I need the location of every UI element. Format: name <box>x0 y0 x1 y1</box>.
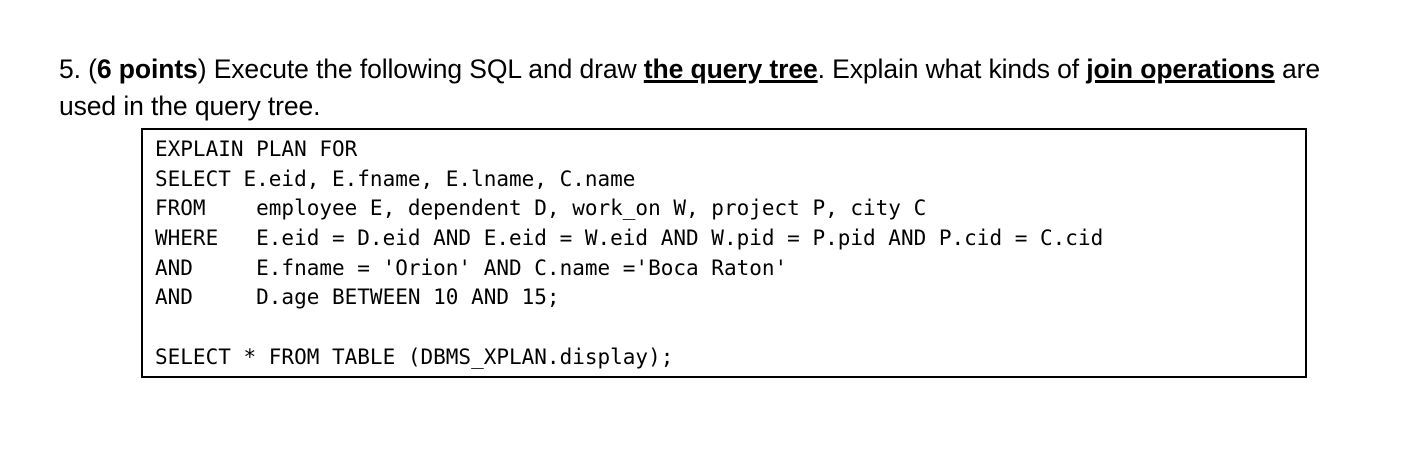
code-line: AND E.fname = 'Orion' AND C.name ='Boca … <box>155 254 1305 284</box>
question-text-2: . Explain what kinds of <box>818 54 1087 84</box>
code-line: EXPLAIN PLAN FOR <box>155 135 1305 165</box>
points-open-paren: ( <box>88 54 97 84</box>
page-root: 5. (6 points) Execute the following SQL … <box>0 0 1418 468</box>
question-prompt: 5. (6 points) Execute the following SQL … <box>59 51 1359 126</box>
code-line: AND D.age BETWEEN 10 AND 15; <box>155 283 1305 313</box>
code-line-blank <box>155 313 1305 343</box>
points-label: 6 points <box>97 54 198 84</box>
code-line: WHERE E.eid = D.eid AND E.eid = W.eid AN… <box>155 224 1305 254</box>
question-text-1: Execute the following SQL and draw <box>214 54 644 84</box>
code-line: FROM employee E, dependent D, work_on W,… <box>155 194 1305 224</box>
sql-code-lines: EXPLAIN PLAN FOR SELECT E.eid, E.fname, … <box>143 130 1305 373</box>
code-line: SELECT E.eid, E.fname, E.lname, C.name <box>155 165 1305 195</box>
points-close-paren: ) <box>198 54 214 84</box>
question-number: 5. <box>59 54 88 84</box>
code-line: SELECT * FROM TABLE (DBMS_XPLAN.display)… <box>155 343 1305 373</box>
question-emphasis-join-operations: join operations <box>1086 54 1274 84</box>
question-emphasis-query-tree: the query tree <box>644 54 818 84</box>
sql-code-block: EXPLAIN PLAN FOR SELECT E.eid, E.fname, … <box>141 128 1307 378</box>
